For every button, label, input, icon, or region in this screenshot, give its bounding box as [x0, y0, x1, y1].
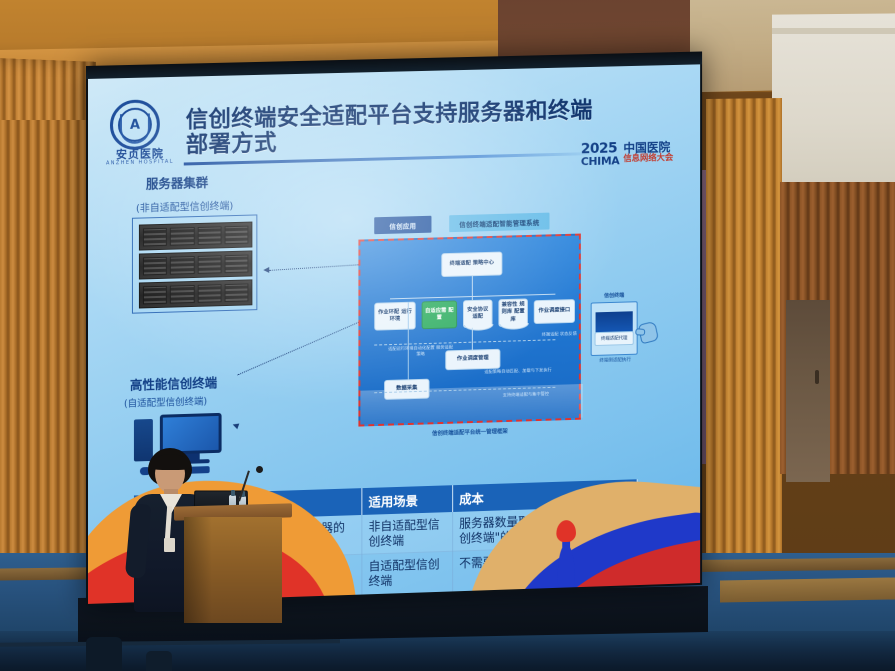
table-cell: 自适配型信创终端	[362, 551, 453, 594]
terminal-device-label: 信创终端	[591, 291, 638, 299]
wall-right-white	[772, 13, 895, 194]
server-rack-unit	[139, 279, 252, 308]
rack-slot-icon	[143, 257, 167, 276]
pc-screen-icon	[163, 416, 219, 452]
connector-arrow-server	[269, 264, 364, 271]
microphone-head-icon[interactable]	[256, 466, 263, 473]
rack-slot-icon	[170, 227, 194, 246]
server-rack-group	[132, 214, 257, 313]
conference-name-line2: 信息网络大会	[623, 154, 673, 164]
speaker-badge	[164, 538, 175, 552]
foreground-equipment	[86, 637, 122, 671]
connector-arrow-head-server	[263, 267, 269, 273]
terminal-device-caption: 终端侧适配执行	[589, 356, 642, 364]
arch-note-left: 适配运行环境自动化配置 服务适配策略	[386, 344, 455, 357]
arch-connector	[472, 328, 473, 350]
rack-slot-icon	[197, 255, 221, 274]
hand-cursor-icon	[638, 321, 659, 344]
rack-slot-icon	[224, 283, 248, 302]
rack-slot-icon	[143, 228, 167, 247]
terminal-device-frame: 终端适配代理	[591, 301, 638, 356]
table-header-cell: 适用场景	[362, 485, 453, 515]
connector-arrow-head-terminal	[232, 422, 240, 430]
decoration-vase-graphic	[553, 520, 578, 594]
arch-connector	[408, 302, 409, 380]
arch-node-adaptive-config: 自适应需 配置	[422, 300, 457, 329]
arch-node-compatibility-rules: 兼容性 规则库 配置库	[498, 298, 527, 327]
conference-logo: 2025 CHIMA 中国医院 信息网络大会	[581, 136, 685, 170]
conference-logo-right: 中国医院 信息网络大会	[623, 141, 673, 164]
connector-arrow-terminal	[237, 322, 359, 376]
stage-side-trim	[720, 577, 895, 602]
wood-slats-right-near	[706, 98, 782, 569]
terminal-device-tag: 终端适配代理	[595, 331, 634, 346]
label-terminal: 高性能信创终端	[130, 372, 217, 394]
doorway[interactable]	[786, 300, 830, 482]
arch-node-runtime: 作业环配 运行环境	[374, 302, 415, 331]
door-handle-icon[interactable]	[815, 370, 819, 384]
arch-node-security-protocol: 安全协议 适配	[463, 299, 493, 328]
arch-header-system: 信创终端适配智能管理系统	[449, 213, 549, 233]
rack-slot-icon	[197, 284, 221, 303]
rack-slot-icon	[143, 286, 167, 305]
arch-header-app: 信创应用	[374, 216, 431, 234]
arch-node-policy-center: 终端适配 策略中心	[441, 252, 502, 278]
conference-scene: A 安贞医院 ANZHEN HOSPITAL 信创终端安全适配平台支持服务器和终…	[0, 0, 895, 671]
rack-slot-icon	[170, 256, 194, 275]
arch-footer-label: 信创终端适配平台统一管理框架	[358, 425, 580, 440]
server-rack-unit	[139, 222, 252, 251]
logo-name-en: ANZHEN HOSPITAL	[102, 159, 178, 167]
arch-node-scheduler-api: 作业调度接口	[534, 299, 575, 324]
label-server-cluster: 服务器集群	[146, 172, 208, 193]
rack-slot-icon	[170, 285, 194, 304]
stage-front-shadow	[0, 631, 895, 671]
terminal-device-graphic: 信创终端 终端适配代理 终端侧适配执行	[591, 301, 638, 356]
vase-top-icon	[556, 520, 576, 542]
hospital-logo: A 安贞医院 ANZHEN HOSPITAL	[102, 99, 180, 175]
slide-title: 信创终端安全适配平台支持服务器和终端部署方式	[186, 98, 610, 159]
arch-note-mid: 适配策略自动匹配、加载与下发执行	[477, 367, 560, 375]
rack-slot-icon	[224, 226, 248, 245]
label-terminal-sub: (自适配型信创终端)	[124, 393, 207, 409]
arch-dash-divider	[374, 339, 555, 345]
arch-boundary: 终端适配 策略中心 作业环配 运行环境 自适应需 配置 安全协议 适配 兼容性 …	[358, 234, 580, 427]
architecture-diagram: 信创应用 信创终端适配智能管理系统 终端适配 策略中心 作业环配 运行环境 自适…	[358, 214, 580, 427]
wood-slats-left-inner	[0, 120, 88, 590]
conference-logo-left: 2025 CHIMA	[581, 141, 620, 167]
conference-abbr: CHIMA	[581, 155, 620, 167]
terminal-device-screen-icon	[596, 311, 633, 333]
label-server-cluster-sub: (非自适配型信创终端)	[136, 197, 233, 215]
arch-node-data-collection: 数据采集	[384, 379, 429, 400]
table-cell: 非自适配型信创终端	[362, 512, 453, 554]
rack-slot-icon	[197, 226, 221, 245]
arch-note-right: 终端适配 状态反馈	[540, 331, 579, 338]
foreground-equipment	[146, 651, 172, 671]
podium-shading	[184, 517, 212, 623]
wall-right-seam	[772, 28, 895, 34]
podium	[178, 505, 288, 623]
rack-slot-icon	[224, 255, 248, 274]
server-rack-unit	[139, 250, 252, 279]
